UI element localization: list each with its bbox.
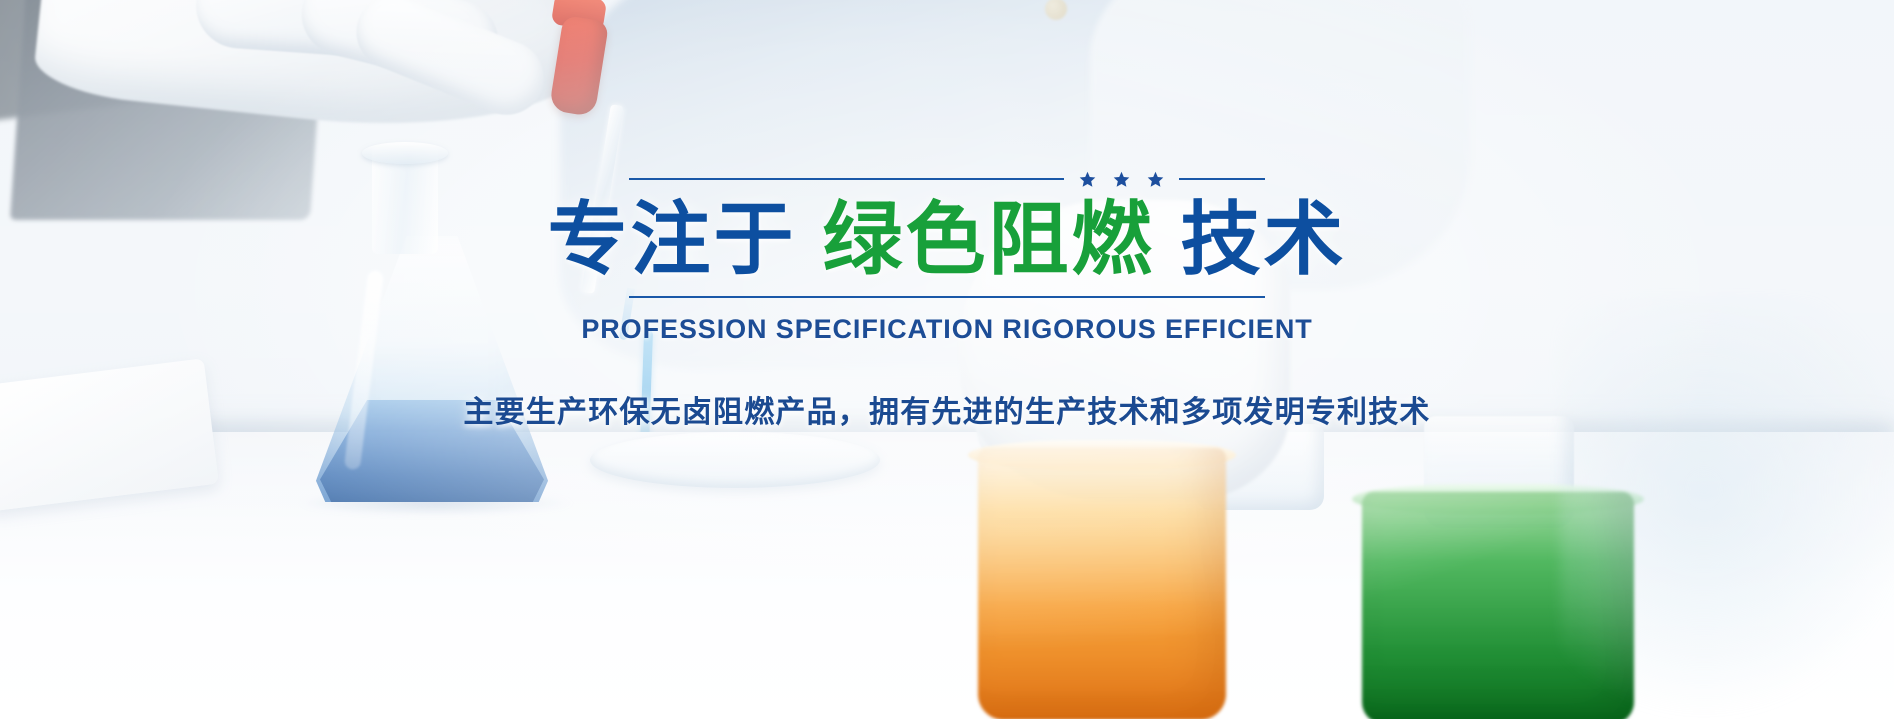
headline-part-2: 绿色阻燃 <box>823 200 1155 280</box>
star-icon <box>1113 171 1130 188</box>
banner-content: 专注于 绿色阻燃 技术 PROFESSION SPECIFICATION RIG… <box>0 0 1894 719</box>
star-group <box>1079 171 1164 188</box>
star-icon <box>1079 171 1096 188</box>
star-icon <box>1147 171 1164 188</box>
divider-rule-left <box>629 178 1064 180</box>
description-text: 主要生产环保无卤阻燃产品，拥有先进的生产技术和多项发明专利技术 <box>463 387 1430 431</box>
subtitle-english: PROFESSION SPECIFICATION RIGOROUS EFFICI… <box>581 314 1312 345</box>
headline-part-1: 专注于 <box>548 200 797 280</box>
headline: 专注于 绿色阻燃 技术 <box>548 200 1347 280</box>
hero-banner: 专注于 绿色阻燃 技术 PROFESSION SPECIFICATION RIG… <box>0 0 1894 719</box>
divider-rule-right <box>1179 178 1265 180</box>
headline-part-3: 技术 <box>1181 200 1347 280</box>
headline-underline <box>629 296 1265 298</box>
star-divider <box>629 170 1265 188</box>
